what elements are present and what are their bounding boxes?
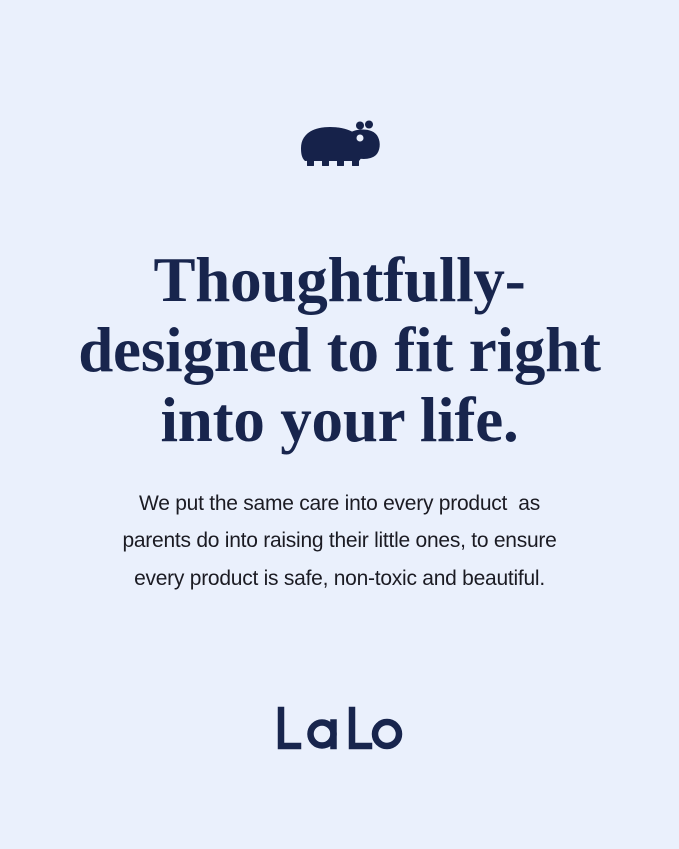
body-copy-line-2: parents do into raising their little one… [75,522,605,559]
brand-logo [0,118,679,168]
hippo-logo-icon [299,118,381,168]
headline: Thoughtfully- designed to fit right into… [40,246,640,456]
headline-line-2: designed to fit right [40,316,640,386]
promo-card: Thoughtfully- designed to fit right into… [0,0,679,849]
body-copy-line-3: every product is safe, non-toxic and bea… [75,560,605,597]
lalo-wordmark-icon [276,706,404,752]
body-copy-line-1: We put the same care into every product … [75,485,605,522]
headline-line-3: into your life. [40,386,640,456]
headline-line-1: Thoughtfully- [40,246,640,316]
brand-wordmark [0,706,679,752]
body-copy: We put the same care into every product … [75,485,605,597]
